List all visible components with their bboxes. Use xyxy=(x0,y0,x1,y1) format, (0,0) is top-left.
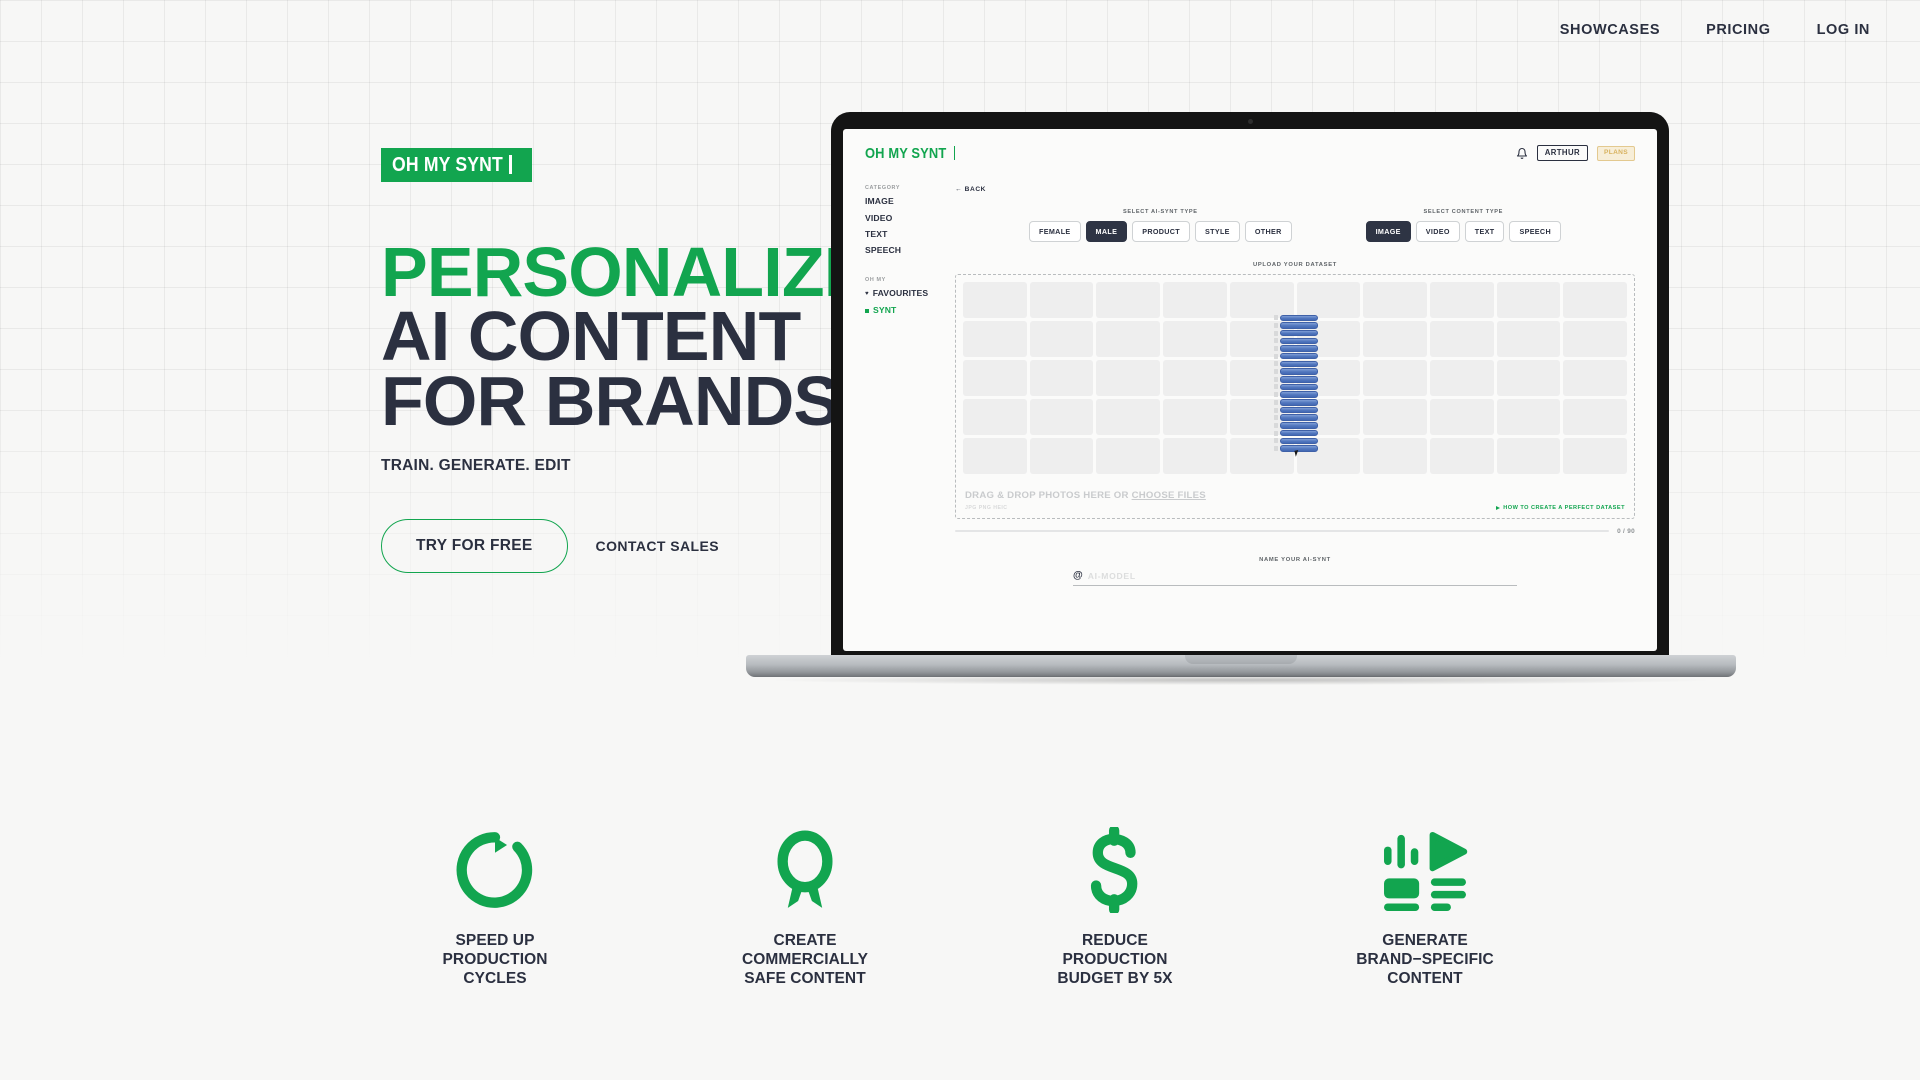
sidebar-item-image[interactable]: IMAGE xyxy=(865,197,949,207)
app-logo[interactable]: OH MY SYNT xyxy=(865,146,962,161)
content-type-video[interactable]: VIDEO xyxy=(1416,221,1460,241)
dataset-tile[interactable] xyxy=(1497,438,1561,474)
type-selector-row: SELECT AI-SYNT TYPE FEMALE MALE PRODUCT … xyxy=(955,209,1635,241)
dataset-tile[interactable] xyxy=(963,321,1027,357)
sidebar-item-favourites[interactable]: ♥ FAVOURITES xyxy=(865,289,949,299)
play-icon xyxy=(1496,506,1500,510)
benefit-brand-content-label: GENERATE BRAND−SPECIFIC CONTENT xyxy=(1327,932,1523,989)
dataset-tile[interactable] xyxy=(1430,438,1494,474)
dataset-tile[interactable] xyxy=(963,360,1027,396)
choose-files-link[interactable]: CHOOSE FILES xyxy=(1132,490,1206,501)
synt-type-other[interactable]: OTHER xyxy=(1245,221,1292,241)
content-type-caption: SELECT CONTENT TYPE xyxy=(1366,209,1561,215)
dataset-tile[interactable] xyxy=(1163,282,1227,318)
square-bullet-icon xyxy=(865,309,869,313)
cursor-pointer-icon xyxy=(1294,449,1302,457)
award-ribbon-icon xyxy=(707,822,903,918)
back-link[interactable]: ← BACK xyxy=(955,186,986,193)
dropzone-instruction-text: DRAG & DROP PHOTOS HERE OR xyxy=(965,490,1132,501)
name-synt-section: NAME YOUR AI-SYNT @ xyxy=(955,557,1635,586)
dataset-tile[interactable] xyxy=(1563,438,1627,474)
upload-progress-bar xyxy=(955,530,1609,532)
app-logo-text: OH MY SYNT xyxy=(865,146,946,161)
dropzone-formats: JPG PNG HEIC xyxy=(965,505,1206,511)
sidebar-item-synt-label: SYNT xyxy=(873,306,896,316)
name-synt-input[interactable] xyxy=(1088,571,1517,581)
dataset-tile[interactable] xyxy=(1297,321,1361,357)
dataset-tile[interactable] xyxy=(1363,282,1427,318)
dataset-tile[interactable] xyxy=(1230,282,1294,318)
dataset-tile[interactable] xyxy=(1030,438,1094,474)
dataset-tile[interactable] xyxy=(1163,360,1227,396)
sidebar-item-synt[interactable]: SYNT xyxy=(865,306,949,316)
benefits-row: SPEED UP PRODUCTION CYCLES CREATE COMMER… xyxy=(0,822,1920,989)
bell-icon[interactable] xyxy=(1516,147,1528,160)
dataset-tile[interactable] xyxy=(1030,399,1094,435)
heart-icon: ♥ xyxy=(865,291,869,297)
synt-type-male[interactable]: MALE xyxy=(1086,221,1128,241)
upload-progress-row: 0 / 90 xyxy=(955,528,1635,535)
name-synt-caption: NAME YOUR AI-SYNT xyxy=(1073,557,1517,563)
dataset-tile[interactable] xyxy=(1497,321,1561,357)
dataset-tile[interactable] xyxy=(1030,360,1094,396)
synt-type-style[interactable]: STYLE xyxy=(1195,221,1240,241)
plans-badge[interactable]: PLANS xyxy=(1597,146,1635,161)
dataset-tile[interactable] xyxy=(963,438,1027,474)
dataset-tile[interactable] xyxy=(1030,321,1094,357)
benefit-reduce-budget: REDUCE PRODUCTION BUDGET BY 5X xyxy=(1017,822,1213,989)
dataset-tile[interactable] xyxy=(1230,399,1294,435)
upload-counter: 0 / 90 xyxy=(1617,528,1635,535)
synt-type-female[interactable]: FEMALE xyxy=(1029,221,1081,241)
app-screen: OH MY SYNT ARTHUR PLANS xyxy=(843,129,1657,651)
text-cursor-icon xyxy=(509,155,512,174)
dataset-tile[interactable] xyxy=(1430,399,1494,435)
content-type-image[interactable]: IMAGE xyxy=(1366,221,1411,241)
dollar-sign-icon xyxy=(1017,822,1213,918)
ai-synt-type-caption: SELECT AI-SYNT TYPE xyxy=(1029,209,1292,215)
dataset-tile[interactable] xyxy=(1230,360,1294,396)
benefit-speed-up: SPEED UP PRODUCTION CYCLES xyxy=(397,822,593,989)
dataset-tile[interactable] xyxy=(1163,399,1227,435)
contact-sales-link[interactable]: CONTACT SALES xyxy=(584,538,731,554)
content-type-speech[interactable]: SPEECH xyxy=(1509,221,1561,241)
content-type-text[interactable]: TEXT xyxy=(1465,221,1505,241)
nav-pricing[interactable]: PRICING xyxy=(1706,22,1770,38)
laptop-mockup: OH MY SYNT ARTHUR PLANS xyxy=(746,112,1736,697)
synt-type-product[interactable]: PRODUCT xyxy=(1132,221,1190,241)
dataset-tile[interactable] xyxy=(1363,399,1427,435)
dataset-tile[interactable] xyxy=(1430,360,1494,396)
sidebar-item-text[interactable]: TEXT xyxy=(865,230,949,240)
dataset-tile[interactable] xyxy=(1497,360,1561,396)
content-type-options: IMAGE VIDEO TEXT SPEECH xyxy=(1366,221,1561,241)
app-main-panel: ← BACK SELECT AI-SYNT TYPE FEMALE MALE P… xyxy=(949,183,1635,585)
benefit-brand-content: GENERATE BRAND−SPECIFIC CONTENT xyxy=(1327,822,1523,989)
dataset-tile[interactable] xyxy=(1096,399,1160,435)
dataset-tile[interactable] xyxy=(1363,438,1427,474)
at-symbol-icon: @ xyxy=(1073,571,1083,581)
sidebar-item-favourites-label: FAVOURITES xyxy=(873,289,929,299)
sidebar-ohmy-label: OH MY xyxy=(865,277,949,283)
dataset-tile[interactable] xyxy=(1297,399,1361,435)
dataset-tile[interactable] xyxy=(1096,438,1160,474)
laptop-lid: OH MY SYNT ARTHUR PLANS xyxy=(831,112,1669,669)
dataset-tile[interactable] xyxy=(1497,399,1561,435)
dataset-tile[interactable] xyxy=(1163,438,1227,474)
benefit-speed-up-label: SPEED UP PRODUCTION CYCLES xyxy=(397,932,593,989)
dataset-tile[interactable] xyxy=(1096,321,1160,357)
dataset-tile-grid xyxy=(963,282,1627,474)
dataset-tile[interactable] xyxy=(1430,282,1494,318)
app-header-actions: ARTHUR PLANS xyxy=(1516,145,1635,161)
dataset-tile[interactable] xyxy=(1563,360,1627,396)
dataset-tile[interactable] xyxy=(1497,282,1561,318)
dataset-tile[interactable] xyxy=(1563,321,1627,357)
sidebar-item-speech[interactable]: SPEECH xyxy=(865,246,949,256)
landing-page: SHOWCASES PRICING LOG IN OH MY SYNT PERS… xyxy=(0,0,1920,1080)
dataset-tile[interactable] xyxy=(1297,438,1361,474)
sidebar-category-label: CATEGORY xyxy=(865,185,949,191)
user-account-chip[interactable]: ARTHUR xyxy=(1537,145,1588,161)
dataset-tile[interactable] xyxy=(1297,360,1361,396)
benefit-safe-content: CREATE COMMERCIALLY SAFE CONTENT xyxy=(707,822,903,989)
benefit-reduce-budget-label: REDUCE PRODUCTION BUDGET BY 5X xyxy=(1017,932,1213,989)
dataset-tile[interactable] xyxy=(1230,438,1294,474)
dropzone-instruction: DRAG & DROP PHOTOS HERE OR CHOOSE FILES xyxy=(965,490,1206,502)
app-body: CATEGORY IMAGE VIDEO TEXT SPEECH OH MY ♥… xyxy=(843,161,1657,585)
brand-logo-text: OH MY SYNT xyxy=(392,155,503,175)
content-type-group: SELECT CONTENT TYPE IMAGE VIDEO TEXT SPE… xyxy=(1366,209,1561,241)
dataset-tile[interactable] xyxy=(1563,399,1627,435)
speed-circle-icon xyxy=(397,822,593,918)
try-for-free-button[interactable]: TRY FOR FREE xyxy=(381,519,568,573)
nav-showcases[interactable]: SHOWCASES xyxy=(1560,22,1660,38)
dropzone-footer: DRAG & DROP PHOTOS HERE OR CHOOSE FILES … xyxy=(965,490,1625,511)
dataset-dropzone[interactable]: DRAG & DROP PHOTOS HERE OR CHOOSE FILES … xyxy=(955,274,1635,519)
laptop-notch xyxy=(1185,655,1297,664)
dataset-caption: UPLOAD YOUR DATASET xyxy=(955,262,1635,268)
how-to-dataset-label: HOW TO CREATE A PERFECT DATASET xyxy=(1503,505,1625,511)
dataset-tile[interactable] xyxy=(1096,282,1160,318)
dataset-tile[interactable] xyxy=(1430,321,1494,357)
laptop-camera-icon xyxy=(1248,119,1253,124)
sidebar-item-video[interactable]: VIDEO xyxy=(865,214,949,224)
name-synt-field[interactable]: @ xyxy=(1073,571,1517,586)
text-cursor-icon xyxy=(954,146,956,160)
dataset-tile[interactable] xyxy=(1163,321,1227,357)
dataset-tile[interactable] xyxy=(1297,282,1361,318)
top-navigation: SHOWCASES PRICING LOG IN xyxy=(0,0,1920,60)
dataset-tile[interactable] xyxy=(1096,360,1160,396)
app-header: OH MY SYNT ARTHUR PLANS xyxy=(843,129,1657,161)
dataset-tile[interactable] xyxy=(1363,321,1427,357)
dataset-tile[interactable] xyxy=(1030,282,1094,318)
how-to-dataset-link[interactable]: HOW TO CREATE A PERFECT DATASET xyxy=(1496,505,1625,511)
nav-login[interactable]: LOG IN xyxy=(1817,22,1870,38)
ai-synt-type-options: FEMALE MALE PRODUCT STYLE OTHER xyxy=(1029,221,1292,241)
media-grid-icon xyxy=(1327,822,1523,918)
dataset-tile[interactable] xyxy=(1230,321,1294,357)
app-sidebar: CATEGORY IMAGE VIDEO TEXT SPEECH OH MY ♥… xyxy=(865,183,949,585)
dataset-tile[interactable] xyxy=(1363,360,1427,396)
dataset-tile[interactable] xyxy=(963,282,1027,318)
ai-synt-type-group: SELECT AI-SYNT TYPE FEMALE MALE PRODUCT … xyxy=(1029,209,1292,241)
dataset-tile[interactable] xyxy=(963,399,1027,435)
laptop-shadow xyxy=(776,675,1706,685)
benefit-safe-content-label: CREATE COMMERCIALLY SAFE CONTENT xyxy=(707,932,903,989)
brand-logo[interactable]: OH MY SYNT xyxy=(381,148,532,182)
dataset-tile[interactable] xyxy=(1563,282,1627,318)
